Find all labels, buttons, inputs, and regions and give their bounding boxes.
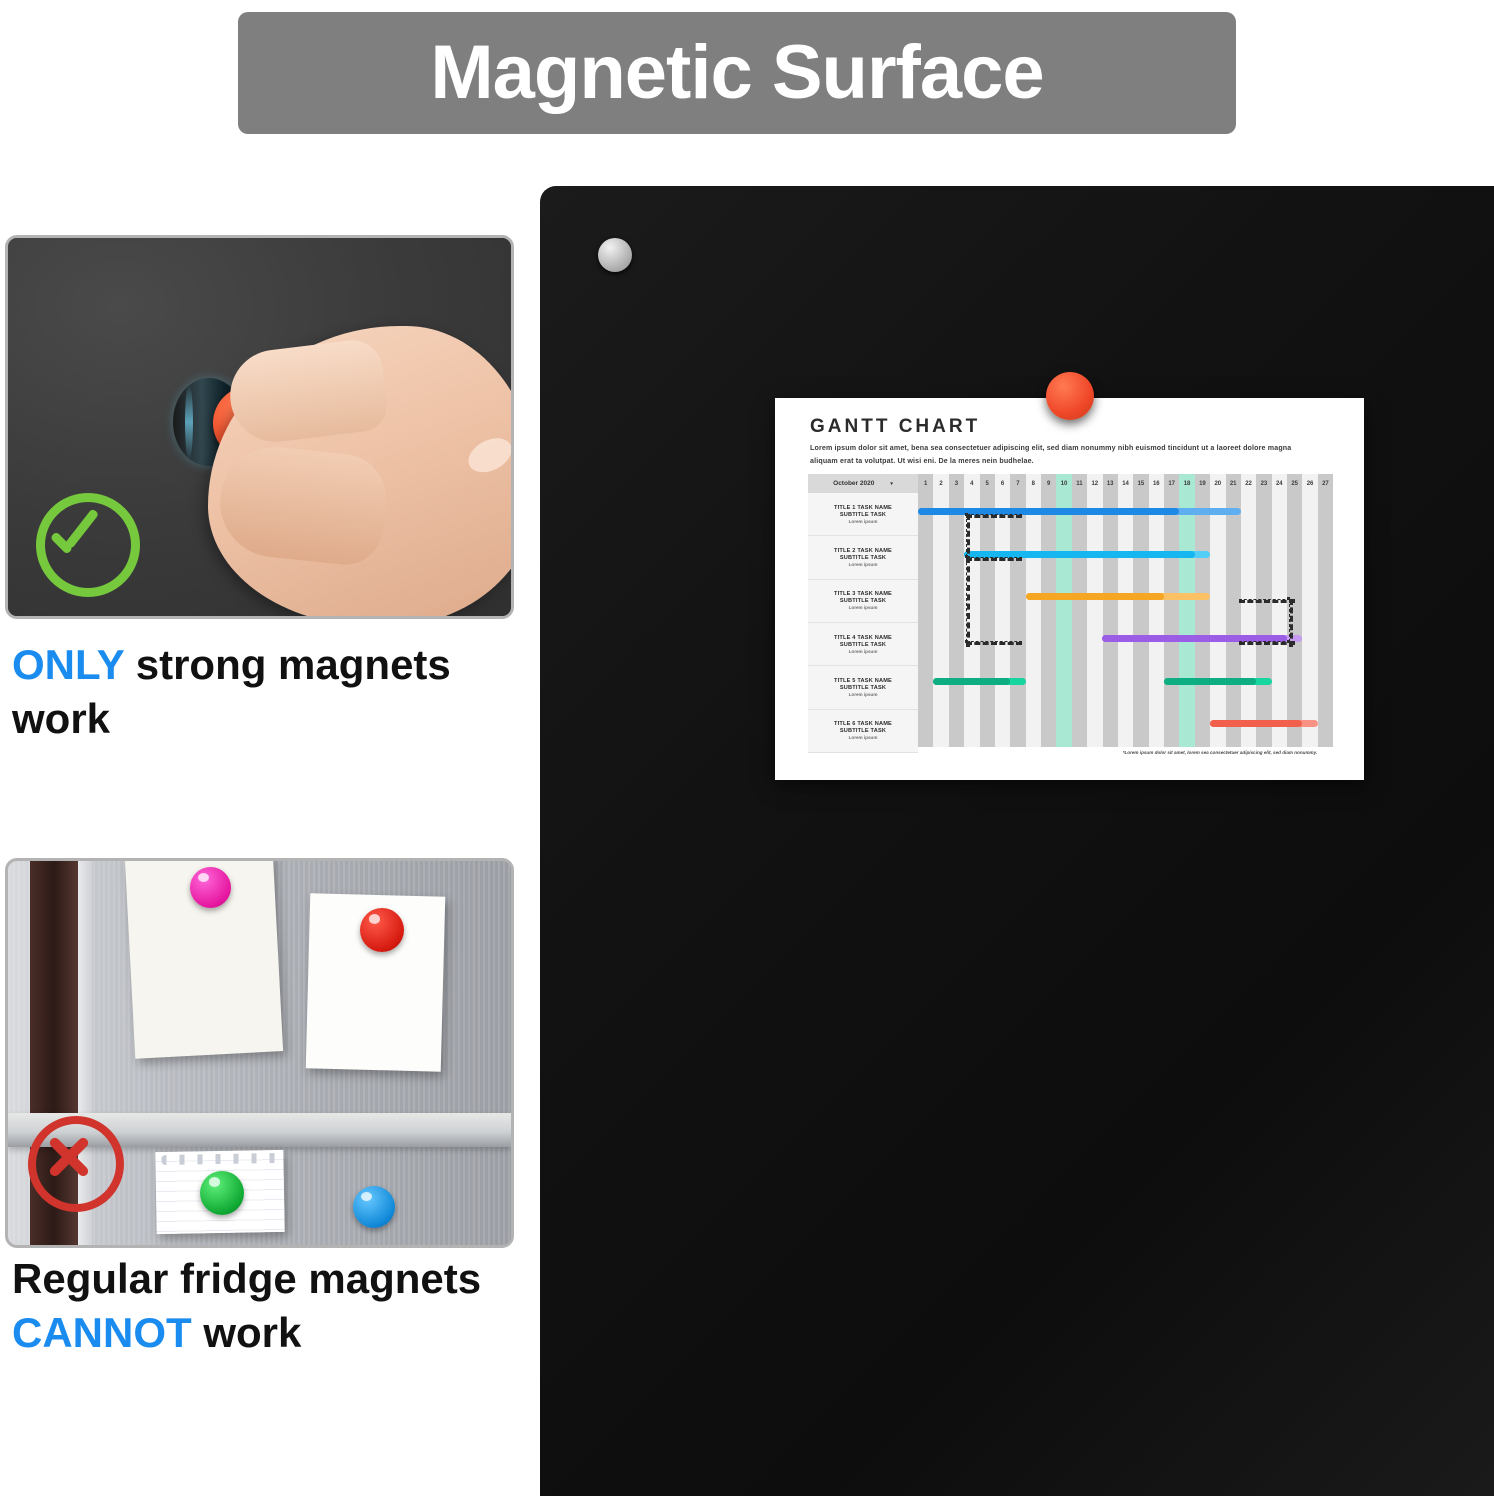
- task-title: TITLE 4 TASK NAME: [834, 635, 892, 641]
- day-header-27[interactable]: 27: [1318, 474, 1333, 493]
- day-header-15[interactable]: 15: [1133, 474, 1148, 493]
- day-header-14[interactable]: 14: [1118, 474, 1133, 493]
- day-header-18[interactable]: 18: [1179, 474, 1194, 493]
- task-title: TITLE 2 TASK NAME: [834, 548, 892, 554]
- task-note: Lorem ipsum: [849, 519, 878, 524]
- gantt-bar-progress: [1026, 593, 1164, 600]
- day-header-24[interactable]: 24: [1272, 474, 1287, 493]
- caption-plain-text: Regular fridge magnets: [12, 1255, 481, 1302]
- caption-tail-text: work: [192, 1309, 302, 1356]
- task-note: Lorem ipsum: [849, 692, 878, 697]
- poster-holding-magnet: [1046, 372, 1094, 420]
- dependency-node: [965, 513, 968, 516]
- day-header-19[interactable]: 19: [1195, 474, 1210, 493]
- dependency-node: [1287, 640, 1290, 643]
- task-row[interactable]: TITLE 2 TASK NAMESUBTITLE TASKLorem ipsu…: [808, 536, 918, 579]
- day-header-26[interactable]: 26: [1302, 474, 1317, 493]
- chevron-down-icon: ▾: [890, 481, 893, 487]
- blue-magnet: [353, 1186, 395, 1228]
- task-note: Lorem ipsum: [849, 562, 878, 567]
- month-selector[interactable]: October 2020 ▾: [808, 474, 918, 493]
- task-title: TITLE 5 TASK NAME: [834, 678, 892, 684]
- gantt-chart-poster: GANTT CHART Lorem ipsum dolor sit amet, …: [775, 398, 1364, 780]
- dependency-line: [966, 557, 970, 648]
- dependency-node: [965, 640, 968, 643]
- day-header-strip: 1234567891011121314151617181920212223242…: [918, 474, 1333, 493]
- green-magnet: [200, 1171, 244, 1215]
- task-row[interactable]: TITLE 5 TASK NAMESUBTITLE TASKLorem ipsu…: [808, 666, 918, 709]
- day-header-13[interactable]: 13: [1103, 474, 1118, 493]
- standoff-screw-icon: [598, 238, 632, 272]
- day-header-8[interactable]: 8: [1026, 474, 1041, 493]
- task-row[interactable]: TITLE 6 TASK NAMESUBTITLE TASKLorem ipsu…: [808, 710, 918, 753]
- dependency-connector: [966, 514, 1022, 518]
- day-header-12[interactable]: 12: [1087, 474, 1102, 493]
- gantt-footnote: *Lorem ipsum dolor sit amet, lorem sea c…: [1105, 750, 1335, 755]
- header-banner: Magnetic Surface: [238, 12, 1236, 134]
- task-row[interactable]: TITLE 3 TASK NAMESUBTITLE TASKLorem ipsu…: [808, 580, 918, 623]
- gantt-grid: October 2020 ▾ 1234567891011121314151617…: [808, 474, 1333, 747]
- task-subtitle: SUBTITLE TASK: [840, 512, 886, 518]
- caption-highlight-cannot: CANNOT: [12, 1309, 192, 1356]
- dependency-connector: [966, 557, 1022, 561]
- day-header-23[interactable]: 23: [1256, 474, 1271, 493]
- caption-highlight-only: ONLY: [12, 641, 124, 688]
- caption-fridge-magnets: Regular fridge magnets CANNOT work: [12, 1252, 532, 1360]
- gantt-bar[interactable]: [1210, 720, 1318, 727]
- gantt-bar[interactable]: [933, 678, 1025, 685]
- day-header-2[interactable]: 2: [933, 474, 948, 493]
- gantt-header-row: October 2020 ▾ 1234567891011121314151617…: [808, 474, 1333, 493]
- gantt-body: TITLE 1 TASK NAMESUBTITLE TASKLorem ipsu…: [808, 493, 1333, 747]
- dependency-node: [965, 555, 968, 558]
- photo-weak-magnets: [5, 858, 514, 1248]
- gantt-bar-progress: [1164, 678, 1256, 685]
- caption-strong-magnets: ONLY strong magnets work: [12, 638, 532, 746]
- task-title: TITLE 1 TASK NAME: [834, 505, 892, 511]
- day-header-25[interactable]: 25: [1287, 474, 1302, 493]
- task-label-column: TITLE 1 TASK NAMESUBTITLE TASKLorem ipsu…: [808, 493, 918, 747]
- task-title: TITLE 3 TASK NAME: [834, 591, 892, 597]
- task-subtitle: SUBTITLE TASK: [840, 728, 886, 734]
- task-subtitle: SUBTITLE TASK: [840, 642, 886, 648]
- day-header-21[interactable]: 21: [1226, 474, 1241, 493]
- task-note: Lorem ipsum: [849, 649, 878, 654]
- day-header-11[interactable]: 11: [1072, 474, 1087, 493]
- day-header-6[interactable]: 6: [995, 474, 1010, 493]
- black-glass-board: [540, 186, 1494, 1496]
- task-title: TITLE 6 TASK NAME: [834, 721, 892, 727]
- month-label: October 2020: [833, 480, 874, 487]
- day-header-7[interactable]: 7: [1010, 474, 1025, 493]
- check-mark-icon: [51, 520, 107, 550]
- task-subtitle: SUBTITLE TASK: [840, 555, 886, 561]
- dependency-connector: [966, 641, 1022, 645]
- day-header-17[interactable]: 17: [1164, 474, 1179, 493]
- task-row[interactable]: TITLE 4 TASK NAMESUBTITLE TASKLorem ipsu…: [808, 623, 918, 666]
- red-magnet: [360, 908, 404, 952]
- day-header-1[interactable]: 1: [918, 474, 933, 493]
- day-header-4[interactable]: 4: [964, 474, 979, 493]
- task-note: Lorem ipsum: [849, 735, 878, 740]
- day-header-10[interactable]: 10: [1056, 474, 1071, 493]
- task-row[interactable]: TITLE 1 TASK NAMESUBTITLE TASKLorem ipsu…: [808, 493, 918, 536]
- day-header-9[interactable]: 9: [1041, 474, 1056, 493]
- day-header-22[interactable]: 22: [1241, 474, 1256, 493]
- day-header-20[interactable]: 20: [1210, 474, 1225, 493]
- gantt-bar-progress: [918, 508, 1179, 515]
- gantt-bar-progress: [933, 678, 1010, 685]
- day-header-5[interactable]: 5: [980, 474, 995, 493]
- gantt-title: GANTT CHART: [810, 416, 980, 438]
- gantt-bar-progress: [1210, 720, 1302, 727]
- dependency-node: [1287, 597, 1290, 600]
- page-title: Magnetic Surface: [430, 35, 1043, 111]
- gantt-bar[interactable]: [1026, 593, 1210, 600]
- day-header-16[interactable]: 16: [1149, 474, 1164, 493]
- x-mark-icon: [38, 1126, 98, 1186]
- task-subtitle: SUBTITLE TASK: [840, 598, 886, 604]
- gantt-subtitle: Lorem ipsum dolor sit amet, bena sea con…: [810, 442, 1310, 468]
- photo-strong-magnet: [5, 235, 514, 619]
- day-header-3[interactable]: 3: [949, 474, 964, 493]
- pink-magnet: [190, 867, 231, 908]
- gantt-bar[interactable]: [1164, 678, 1272, 685]
- task-note: Lorem ipsum: [849, 605, 878, 610]
- task-subtitle: SUBTITLE TASK: [840, 685, 886, 691]
- task-bars-layer: [918, 493, 1333, 747]
